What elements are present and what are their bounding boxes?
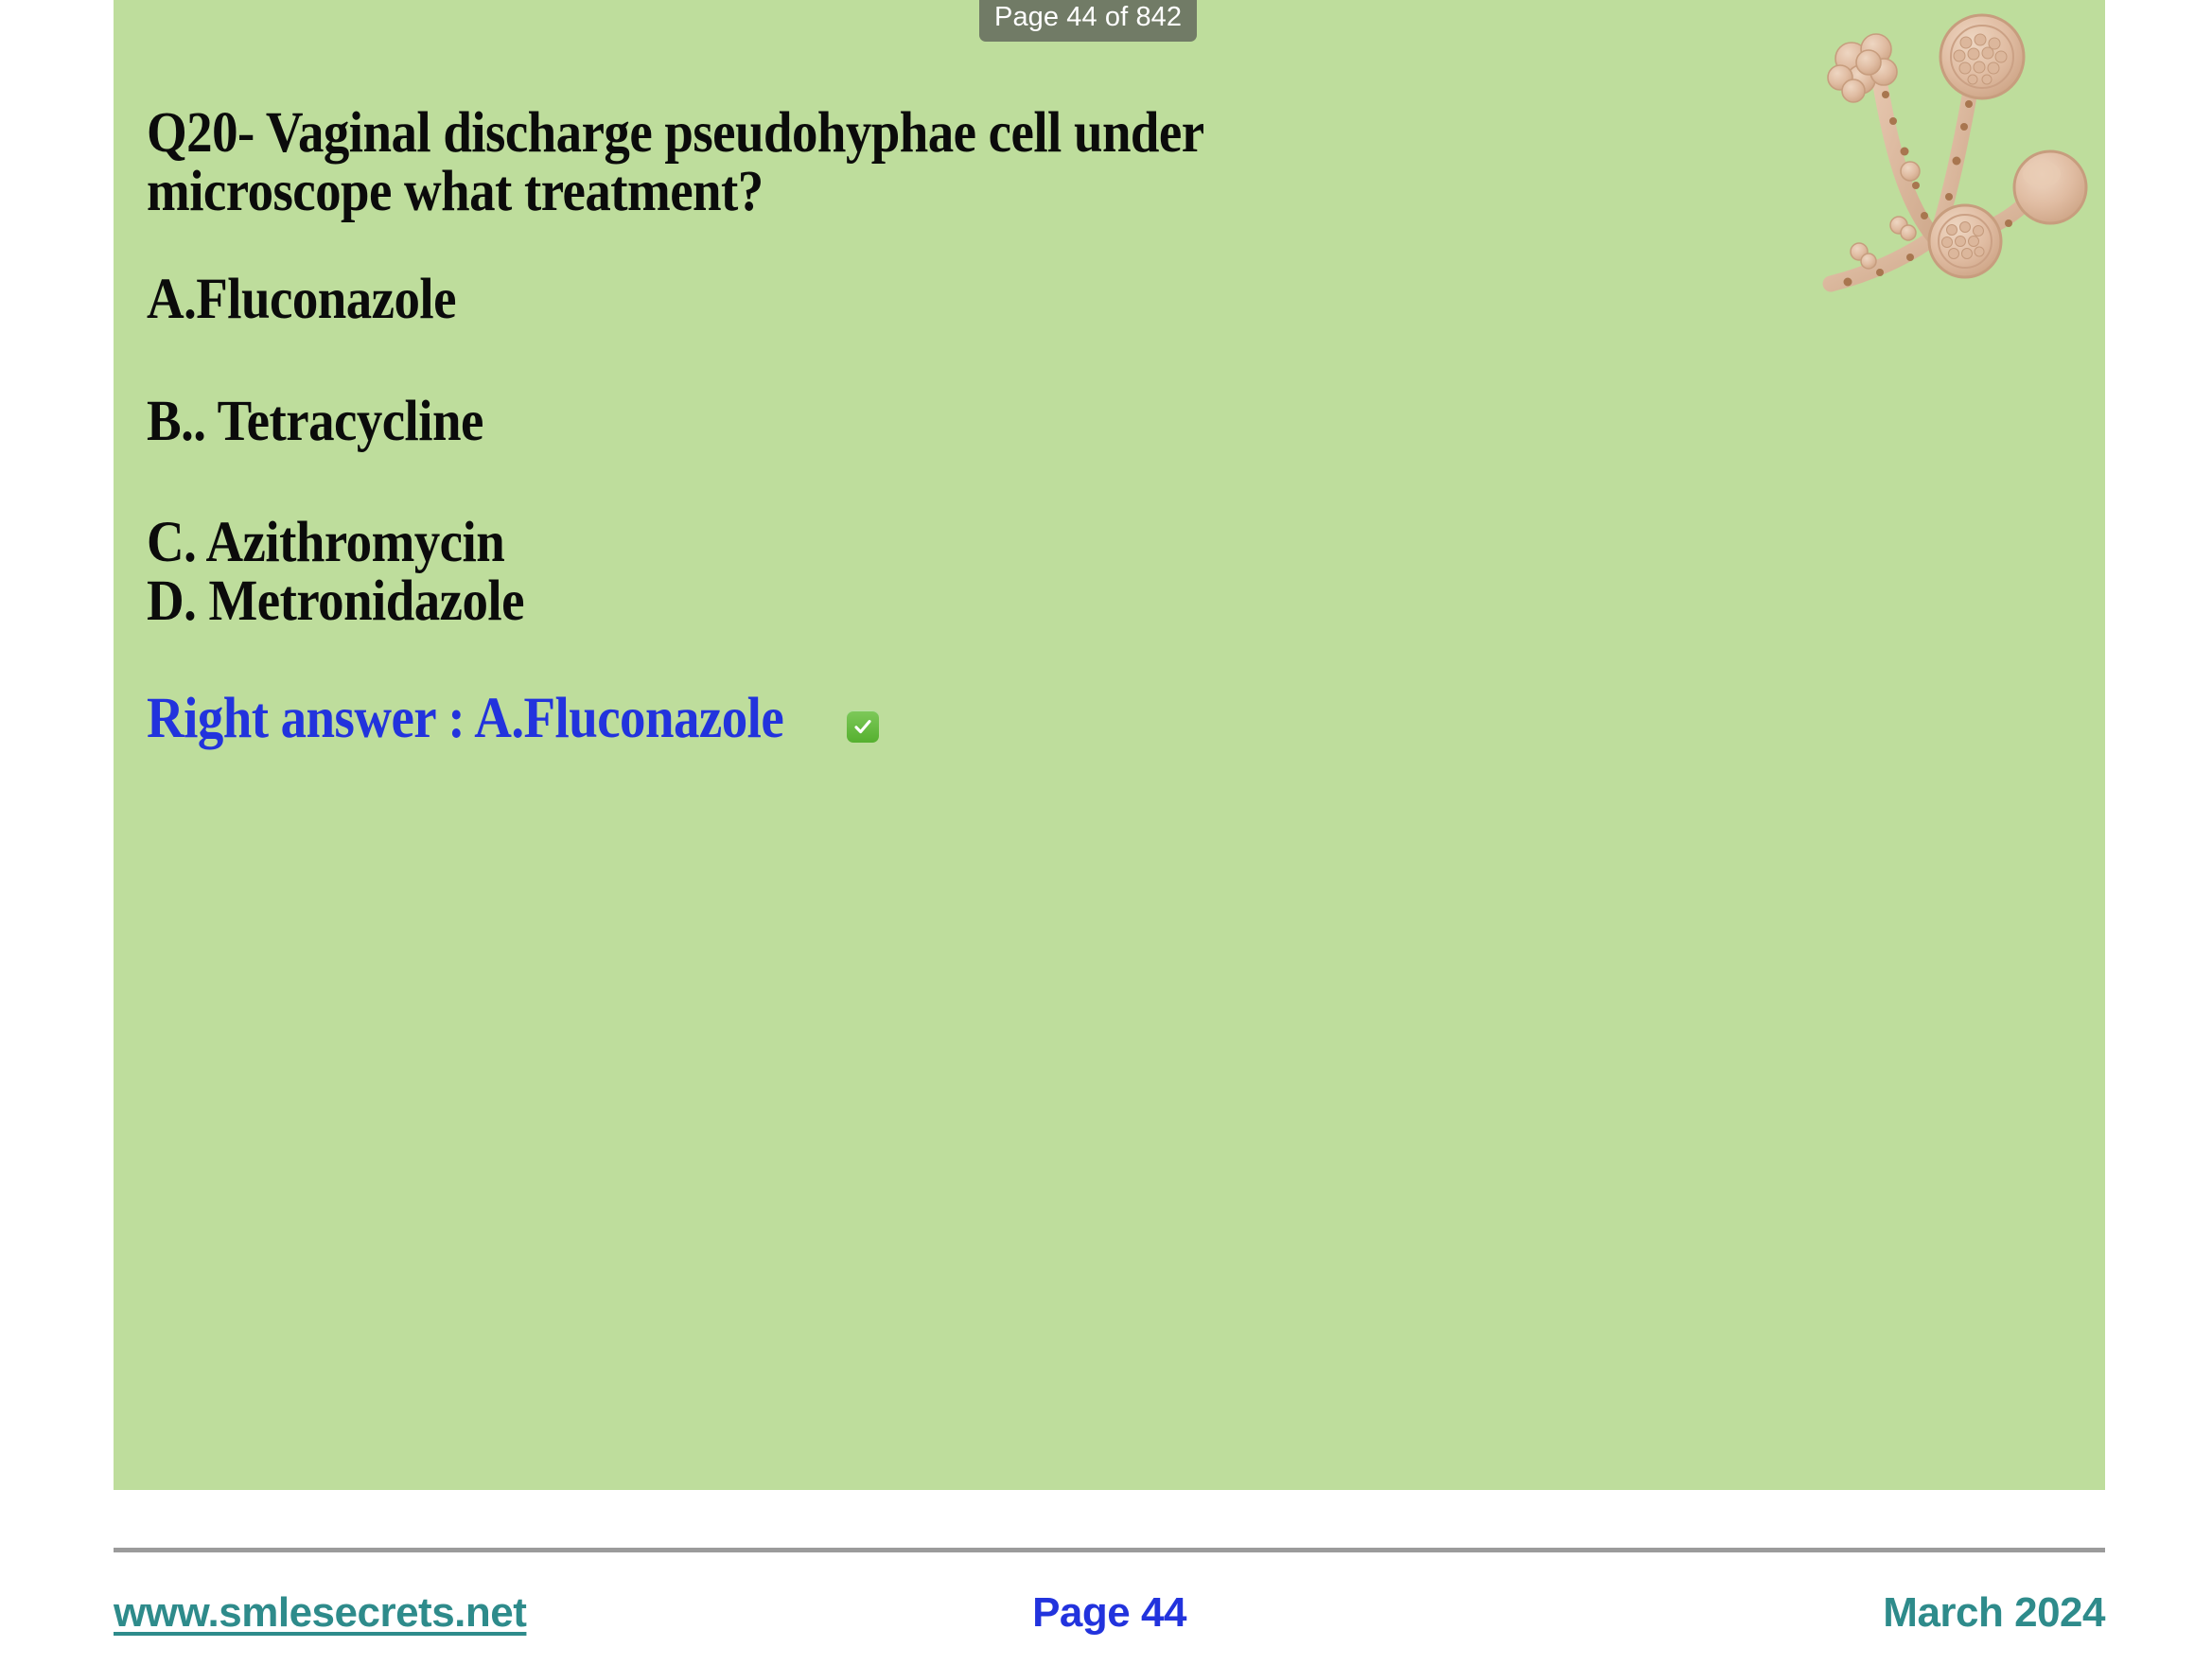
option-a: A.Fluconazole <box>147 271 1645 329</box>
slide-content: Q20- Vaginal discharge pseudohyphae cell… <box>147 104 1812 749</box>
option-c: C. Azithromycin <box>147 514 1645 572</box>
footer: www.smlesecrets.net Page 44 March 2024 <box>114 1575 2105 1651</box>
right-answer-line: Right answer : A.Fluconazole <box>147 690 1812 748</box>
option-d: D. Metronidazole <box>147 572 1645 631</box>
footer-page-number: Page 44 <box>114 1589 2105 1637</box>
option-b: B.. Tetracycline <box>147 393 1645 451</box>
right-answer-text: Right answer : A.Fluconazole <box>147 690 783 748</box>
footer-date: March 2024 <box>1883 1589 2105 1637</box>
question-block: Q20- Vaginal discharge pseudohyphae cell… <box>147 104 1812 221</box>
white-heavy-check-mark-icon <box>847 710 879 743</box>
question-line-2: microscope what treatment? <box>147 163 1645 221</box>
footer-divider <box>114 1548 2105 1552</box>
page-indicator-tooltip: Page 44 of 842 <box>979 0 1197 42</box>
fungal-pseudohyphae-illustration <box>1793 0 2105 312</box>
question-line-1: Q20- Vaginal discharge pseudohyphae cell… <box>147 104 1645 163</box>
slide-panel: Q20- Vaginal discharge pseudohyphae cell… <box>114 0 2105 1490</box>
